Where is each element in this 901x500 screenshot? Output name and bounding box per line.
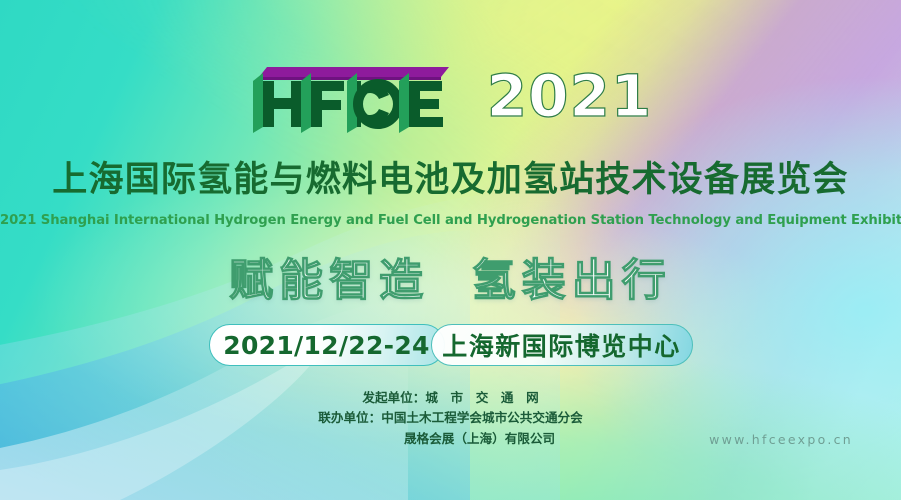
expo-poster: 2021 上海国际氢能与燃料电池及加氢站技术设备展览会 2021 Shangha… (0, 0, 901, 500)
coorganizer-line-1: 联办单位：中国土木工程学会城市公共交通分会 (0, 408, 901, 428)
slogan: 赋能智造 氢装出行 (0, 258, 901, 304)
event-venue-pill: 上海新国际博览中心 (431, 324, 693, 366)
page-title-cn: 上海国际氢能与燃料电池及加氢站技术设备展览会 (0, 160, 901, 201)
event-date-pill: 2021/12/22-24 (209, 324, 445, 366)
hfce-logo (249, 55, 449, 133)
logo-year: 2021 (487, 67, 652, 125)
page-title-en: 2021 Shanghai International Hydrogen Ene… (0, 213, 901, 228)
event-info-row: 2021/12/22-24 上海新国际博览中心 (0, 322, 901, 368)
initiator-line: 发起单位：城 市 交 通 网 (0, 388, 901, 408)
logo-row: 2021 (0, 54, 901, 134)
website-url[interactable]: www.hfceexpo.cn (709, 432, 853, 447)
hfce-logo-icon (249, 55, 449, 133)
